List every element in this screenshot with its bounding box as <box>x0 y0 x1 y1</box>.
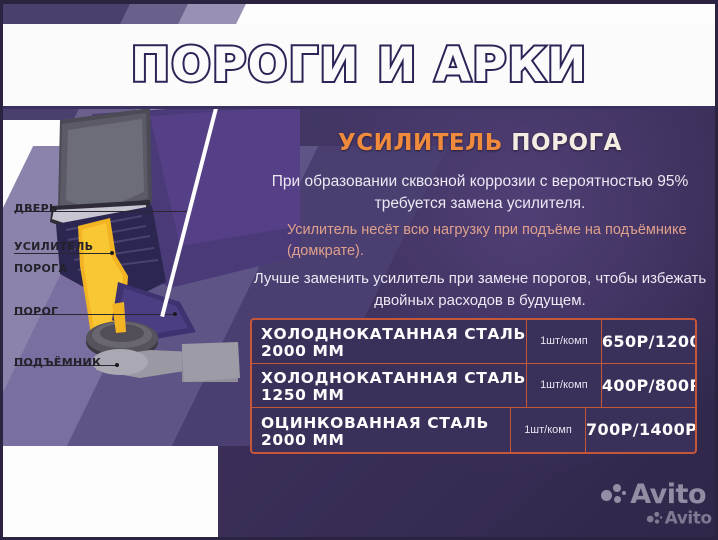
callout-label-reinforcer2: ПОРОГА <box>14 262 67 275</box>
frame-border-left <box>0 0 3 540</box>
table-cell-material: ХОЛОДНОКАТАННАЯ СТАЛЬ 2000 ММ <box>252 320 526 363</box>
callout-label-sill: ПОРОГ <box>14 305 58 318</box>
material-name-line1: ОЦИНКОВАННАЯ СТАЛЬ <box>261 415 510 432</box>
advertisement-banner: ДВЕРЬ УСИЛИТЕЛЬ ПОРОГА ПОРОГ ПОДЪЁМНИК П… <box>0 0 718 540</box>
frame-border-top <box>0 0 718 4</box>
price-table: ХОЛОДНОКАТАННАЯ СТАЛЬ 2000 ММ 1шт/комп 6… <box>250 318 697 454</box>
panel-paragraph-corrosion: При образовании сквозной коррозии с веро… <box>250 171 710 215</box>
table-cell-quantity: 1шт/комп <box>526 320 602 363</box>
panel-paragraph-advice: Лучше заменить усилитель при замене поро… <box>248 268 712 312</box>
material-name-line2: 2000 ММ <box>261 343 526 360</box>
table-cell-price: 700Р/1400Р <box>586 408 697 452</box>
material-name-line2: 1250 ММ <box>261 387 526 404</box>
material-name-line2: 2000 ММ <box>261 432 510 449</box>
table-cell-price: 400Р/800Р <box>602 364 697 407</box>
banner-title-bar: ПОРОГИ И АРКИ <box>0 24 718 106</box>
callout-dot-sill <box>173 312 177 316</box>
callout-dot-jack <box>115 363 119 367</box>
avito-logo-icon <box>601 484 627 506</box>
title-underline <box>0 106 718 109</box>
headline-word-secondary: ПОРОГА <box>511 130 622 156</box>
callout-label-door: ДВЕРЬ <box>14 202 58 215</box>
page-title: ПОРОГИ И АРКИ <box>0 24 718 106</box>
table-cell-quantity: 1шт/комп <box>526 364 602 407</box>
table-row: ХОЛОДНОКАТАННАЯ СТАЛЬ 1250 ММ 1шт/комп 4… <box>252 364 695 408</box>
callout-label-reinforcer1: УСИЛИТЕЛЬ <box>14 240 93 253</box>
avito-wordmark: Avito <box>665 509 712 528</box>
material-name-line1: ХОЛОДНОКАТАННАЯ СТАЛЬ <box>261 370 526 387</box>
avito-wordmark: Avito <box>630 479 706 510</box>
avito-watermark-primary: Avito <box>601 479 706 510</box>
table-cell-material: ОЦИНКОВАННАЯ СТАЛЬ 2000 ММ <box>252 408 510 452</box>
table-row: ОЦИНКОВАННАЯ СТАЛЬ 2000 ММ 1шт/комп 700Р… <box>252 408 695 452</box>
material-name-line1: ХОЛОДНОКАТАННАЯ СТАЛЬ <box>261 326 526 343</box>
table-cell-quantity: 1шт/комп <box>510 408 586 452</box>
headline-word-primary: УСИЛИТЕЛЬ <box>338 130 503 156</box>
table-cell-material: ХОЛОДНОКАТАННАЯ СТАЛЬ 1250 ММ <box>252 364 526 407</box>
callout-leader-reinforcer <box>14 253 112 254</box>
callout-label-jack: ПОДЪЁМНИК <box>14 356 101 369</box>
callout-dot-reinforcer <box>110 251 114 255</box>
avito-logo-icon <box>647 512 663 526</box>
table-cell-price: 650Р/1200Р <box>602 320 697 363</box>
table-row: ХОЛОДНОКАТАННАЯ СТАЛЬ 2000 ММ 1шт/комп 6… <box>252 320 695 364</box>
panel-headline: УСИЛИТЕЛЬ ПОРОГА <box>250 130 710 156</box>
avito-watermark-secondary: Avito <box>647 509 712 528</box>
panel-paragraph-load: Усилитель несёт всю нагрузку при подъёме… <box>255 220 705 262</box>
